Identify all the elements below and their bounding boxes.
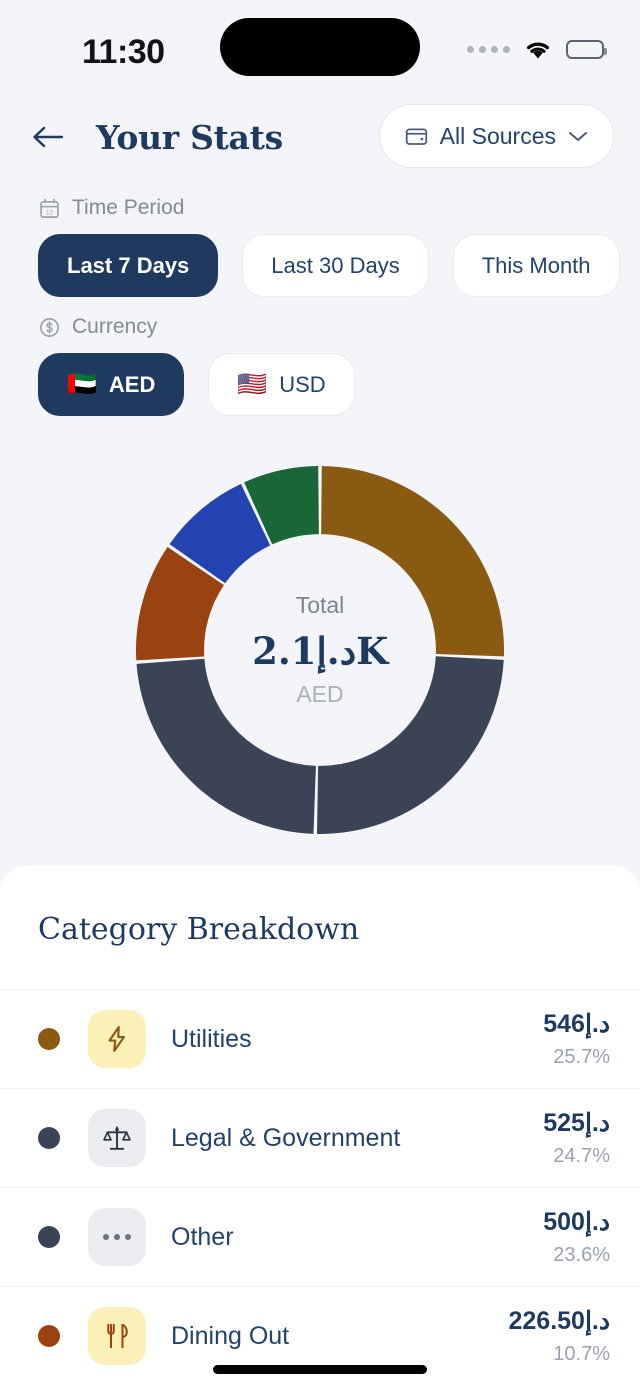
page-title: Your Stats (96, 118, 283, 157)
chip-currency-usd-label: USD (279, 372, 325, 398)
currency-label-group: Currency (38, 315, 640, 339)
chip-last-7-days[interactable]: Last 7 Days (38, 234, 218, 297)
source-selector-button[interactable]: All Sources (379, 104, 614, 168)
calendar-icon: 12 (38, 197, 61, 220)
home-indicator (213, 1365, 427, 1374)
category-percent: 10.7% (509, 1343, 611, 1366)
category-percent: 24.7% (543, 1145, 610, 1168)
fork-knife-icon (102, 1321, 132, 1351)
category-values: 525د.إ 24.7% (543, 1108, 610, 1168)
category-icon-tile (88, 1109, 146, 1167)
donut-segment[interactable] (317, 656, 504, 834)
time-period-label: Time Period (72, 196, 184, 220)
currency-label: Currency (72, 315, 157, 339)
status-time: 11:30 (82, 33, 165, 72)
chip-currency-aed[interactable]: 🇦🇪 AED (38, 353, 184, 416)
category-values: 500د.إ 23.6% (543, 1207, 610, 1267)
category-percent: 23.6% (543, 1244, 610, 1267)
table-row[interactable]: Other 500د.إ 23.6% (0, 1187, 640, 1286)
table-row[interactable]: Legal & Government 525د.إ 24.7% (0, 1088, 640, 1187)
scales-icon (102, 1123, 132, 1153)
category-icon-tile (88, 1208, 146, 1266)
card-title: Category Breakdown (0, 866, 640, 947)
signal-dots-icon (467, 46, 510, 53)
time-period-label-group: 12 Time Period (38, 196, 640, 220)
color-dot (38, 1028, 60, 1050)
donut-chart-svg (136, 466, 504, 834)
category-amount: 500د.إ (543, 1208, 610, 1236)
category-breakdown-card: Category Breakdown Utilities 546د.إ 25.7… (0, 866, 640, 1391)
category-name: Utilities (171, 1025, 252, 1054)
color-dot (38, 1325, 60, 1347)
category-name: Other (171, 1223, 234, 1252)
filters-section: 12 Time Period Last 7 Days Last 30 Days … (0, 196, 640, 416)
category-icon-tile (88, 1010, 146, 1068)
category-amount: 525د.إ (543, 1109, 610, 1137)
category-amount: 546د.إ (543, 1010, 610, 1038)
status-bar: 11:30 (0, 0, 640, 96)
status-indicators (467, 38, 604, 60)
color-dot (38, 1127, 60, 1149)
color-dot (38, 1226, 60, 1248)
category-values: 226.50د.إ 10.7% (509, 1306, 611, 1366)
category-icon-tile (88, 1307, 146, 1365)
chevron-down-icon (567, 129, 589, 143)
donut-segment[interactable] (321, 466, 504, 656)
svg-text:12: 12 (46, 209, 54, 216)
donut-chart[interactable]: Total 2.1د.إK AED (136, 466, 504, 834)
chip-last-30-days[interactable]: Last 30 Days (242, 234, 428, 297)
time-period-chip-row[interactable]: Last 7 Days Last 30 Days This Month Prev… (38, 234, 640, 297)
page-header: Your Stats All Sources (0, 96, 640, 178)
donut-segment[interactable] (137, 659, 316, 834)
battery-icon (566, 40, 604, 59)
back-button[interactable] (26, 115, 70, 159)
donut-chart-section: Total 2.1د.إK AED (0, 450, 640, 850)
category-name: Legal & Government (171, 1124, 400, 1153)
chip-currency-aed-label: AED (109, 372, 155, 398)
table-row[interactable]: Utilities 546د.إ 25.7% (0, 989, 640, 1088)
ellipsis-icon (103, 1234, 131, 1240)
usa-flag-icon: 🇺🇸 (237, 373, 267, 397)
dynamic-island (220, 18, 420, 76)
back-arrow-icon (31, 124, 65, 150)
source-selector-label: All Sources (440, 123, 556, 150)
uae-flag-icon: 🇦🇪 (67, 373, 97, 397)
category-rows: Utilities 546د.إ 25.7% Legal & Governm (0, 989, 640, 1385)
category-percent: 25.7% (543, 1046, 610, 1069)
wallet-icon (404, 124, 429, 149)
category-values: 546د.إ 25.7% (543, 1009, 610, 1069)
chip-currency-usd[interactable]: 🇺🇸 USD (208, 353, 354, 416)
stats-screen: 11:30 Your Stats (0, 0, 640, 1391)
lightning-bolt-icon (102, 1024, 132, 1054)
chip-this-month[interactable]: This Month (453, 234, 620, 297)
currency-chip-row[interactable]: 🇦🇪 AED 🇺🇸 USD (38, 353, 640, 416)
dollar-circle-icon (38, 316, 61, 339)
category-amount: 226.50د.إ (509, 1307, 611, 1335)
category-name: Dining Out (171, 1322, 289, 1351)
wifi-icon (523, 38, 553, 60)
